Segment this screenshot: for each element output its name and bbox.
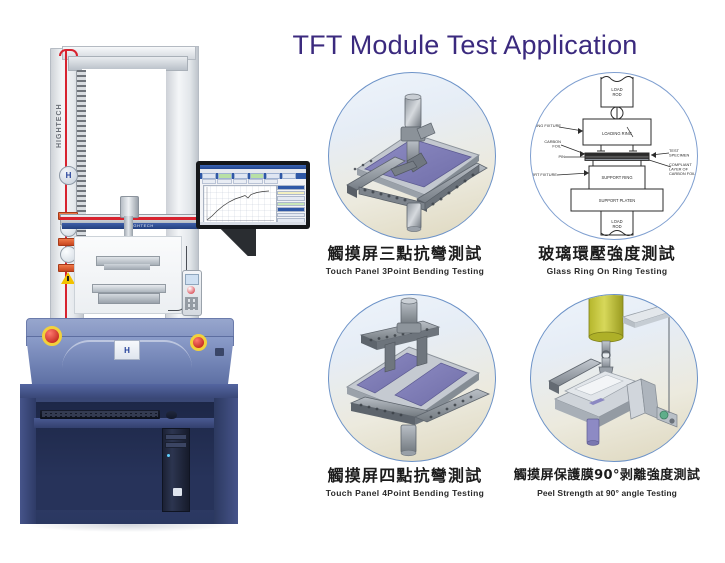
mouse[interactable] <box>166 411 177 419</box>
warning-triangle-icon <box>61 272 75 284</box>
svg-text:LOADING FIXTURE: LOADING FIXTURE <box>531 123 561 128</box>
svg-text:FOIL: FOIL <box>552 144 561 149</box>
universal-testing-machine-photo: HIGHTECH H HIGHTECH <box>10 18 250 538</box>
page-title: TFT Module Test Application <box>250 24 680 66</box>
desk-left-panel <box>20 398 36 524</box>
caption-peel-strength: 觸摸屏保護膜90°剥離強度測試 Peel Strength at 90° ang… <box>507 466 707 498</box>
upper-fixture-adapter <box>104 264 150 270</box>
load-displacement-chart <box>203 185 277 223</box>
pc-badge <box>173 488 182 496</box>
svg-text:ROD: ROD <box>612 224 621 229</box>
desk-top-surface <box>20 384 238 398</box>
image-3point-bending-fixture <box>328 72 496 240</box>
application-poster: TFT Module Test Application HIGHTECH H H… <box>0 0 725 563</box>
svg-text:CARBON FOIL: CARBON FOIL <box>669 171 696 176</box>
svg-text:SUPPORT FIXTURE: SUPPORT FIXTURE <box>531 172 557 177</box>
pc-drive-bay <box>165 442 187 448</box>
card-peel-strength-90-degree[interactable]: 觸摸屏保護膜90°剥離強度測試 Peel Strength at 90° ang… <box>507 294 707 509</box>
tab-curve[interactable] <box>217 179 231 184</box>
machine-brand-badge: H <box>59 166 78 185</box>
card-touch-panel-3point-bending[interactable]: 觸摸屏三點抗彎測試 Touch Panel 3Point Bending Tes… <box>305 72 505 287</box>
caption-cn: 觸摸屏保護膜90°剥離強度測試 <box>507 466 707 486</box>
card-glass-ring-on-ring[interactable]: LOAD ROD LOADING RING SUPPORT RING SUPPO… <box>507 72 707 287</box>
caption-4point-bending: 觸摸屏四點抗彎測試 Touch Panel 4Point Bending Tes… <box>305 466 505 498</box>
image-peel-strength-fixture <box>530 294 698 462</box>
software-tabbar[interactable] <box>200 179 278 184</box>
desk-right-panel <box>214 398 238 524</box>
tab-report[interactable] <box>248 179 262 184</box>
pc-optical-drive[interactable] <box>165 434 187 440</box>
tab-setup[interactable] <box>264 179 278 184</box>
controller-display <box>185 274 199 285</box>
caption-en: Glass Ring On Ring Testing <box>507 266 707 276</box>
caption-cn: 玻璃環壓強度測試 <box>507 244 707 264</box>
keyboard-shelf <box>34 418 214 428</box>
line-diagram-ring-on-ring: LOAD ROD LOADING RING SUPPORT RING SUPPO… <box>531 73 697 239</box>
test-application-grid: 觸摸屏三點抗彎測試 Touch Panel 3Point Bending Tes… <box>295 72 715 517</box>
load-cell <box>120 196 139 218</box>
svg-text:ROD: ROD <box>612 92 621 97</box>
test-software-screen[interactable] <box>200 165 306 225</box>
machine-brand-label: HIGHTECH <box>56 86 74 166</box>
machine-base-logo: H <box>114 340 140 360</box>
caption-3point-bending: 觸摸屏三點抗彎測試 Touch Panel 3Point Bending Tes… <box>305 244 505 276</box>
chart-curve <box>204 186 276 222</box>
caption-en: Peel Strength at 90° angle Testing <box>507 488 707 498</box>
lower-fixture <box>98 293 160 304</box>
pc-tower <box>162 428 190 512</box>
caption-cn: 觸摸屏三點抗彎測試 <box>305 244 505 264</box>
svg-text:PIN: PIN <box>559 154 566 159</box>
svg-text:SUPPORT RING: SUPPORT RING <box>601 175 632 180</box>
machine-base-vent <box>215 348 224 356</box>
caption-en: Touch Panel 3Point Bending Testing <box>305 266 505 276</box>
emergency-stop-button-left[interactable] <box>42 326 62 346</box>
monitor-stand <box>246 229 256 241</box>
software-statusbar <box>200 222 306 225</box>
caption-en: Touch Panel 4Point Bending Testing <box>305 488 505 498</box>
pc-power-led-icon <box>167 454 170 457</box>
card-touch-panel-4point-bending[interactable]: 觸摸屏四點抗彎測試 Touch Panel 4Point Bending Tes… <box>305 294 505 509</box>
crosshead-brand-text: HIGHTECH <box>106 223 176 229</box>
keyboard-keys[interactable] <box>42 411 158 417</box>
tab-result[interactable] <box>233 179 247 184</box>
svg-text:LOADING RING: LOADING RING <box>602 131 632 136</box>
toolbar-button-print[interactable] <box>282 173 296 179</box>
machine-guide-strip-cap <box>59 49 78 56</box>
cad-peel-strength <box>531 295 697 461</box>
emergency-stop-button-right[interactable] <box>190 334 207 351</box>
image-4point-bending-fixture <box>328 294 496 462</box>
controller-keypad[interactable] <box>185 297 198 310</box>
controller-logo-icon <box>187 286 195 294</box>
svg-text:SUPPORT PLATEN: SUPPORT PLATEN <box>599 198 635 203</box>
tab-test[interactable] <box>202 179 216 184</box>
caption-glass-ring-on-ring: 玻璃環壓強度測試 Glass Ring On Ring Testing <box>507 244 707 276</box>
caption-cn: 觸摸屏四點抗彎測試 <box>305 466 505 486</box>
image-ring-on-ring-diagram: LOAD ROD LOADING RING SUPPORT RING SUPPO… <box>530 72 698 240</box>
cad-3point-bending <box>329 73 495 239</box>
specimen-plate <box>92 284 166 293</box>
svg-text:SPECIMEN: SPECIMEN <box>669 153 690 158</box>
cad-4point-bending <box>329 295 495 461</box>
